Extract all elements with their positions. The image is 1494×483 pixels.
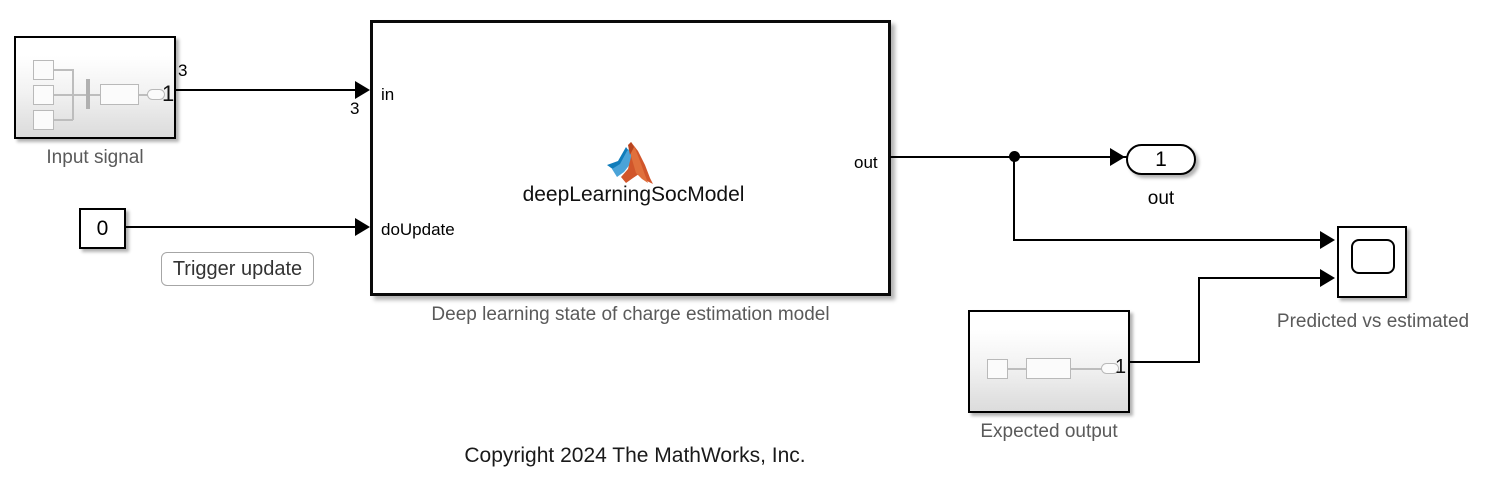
port-label-doupdate: doUpdate xyxy=(381,220,455,240)
icon-source-box-1 xyxy=(33,60,54,80)
icon-wire-1v xyxy=(72,69,74,95)
icon-mux-out xyxy=(90,94,100,96)
block-outport-1[interactable]: 1 xyxy=(1126,144,1196,175)
signal-width-dest: 3 xyxy=(350,99,359,119)
signal-arrow-icon-in xyxy=(355,81,370,99)
copyright-text: Copyright 2024 The MathWorks, Inc. xyxy=(0,444,1270,468)
port-label-in: in xyxy=(381,85,394,105)
simulink-canvas: 1 Input signal 3 3 0 Trigger update deep… xyxy=(0,0,1494,483)
wire-expected-up xyxy=(1198,277,1200,362)
signal-arrow-icon-doupdate xyxy=(355,218,370,236)
annotation-trigger-update[interactable]: Trigger update xyxy=(161,252,314,286)
scope-screen-icon xyxy=(1351,239,1395,274)
icon-wire-b xyxy=(1071,368,1102,370)
block-label-expected-output: Expected output xyxy=(968,421,1130,443)
block-model-reference[interactable]: deepLearningSocModel in doUpdate out xyxy=(370,20,891,296)
icon-wire-1 xyxy=(54,69,73,71)
icon-process-box xyxy=(1026,358,1071,379)
icon-outport-number: 1 xyxy=(162,81,174,107)
icon-process-box xyxy=(100,84,139,105)
block-input-signal[interactable]: 1 xyxy=(14,36,176,139)
matlab-membrane-icon xyxy=(604,139,662,187)
block-label-model-reference: Deep learning state of charge estimation… xyxy=(370,304,891,326)
signal-arrow-icon-outport xyxy=(1110,148,1125,166)
icon-source-box xyxy=(987,359,1008,379)
icon-wire-2 xyxy=(54,94,88,96)
block-label-input-signal: Input signal xyxy=(14,147,176,169)
wire-branch-to-scope xyxy=(1013,239,1323,241)
wire-constant-to-model xyxy=(126,226,357,228)
wire-input-to-model xyxy=(176,89,357,91)
wire-expected-out xyxy=(1130,361,1200,363)
signal-arrow-icon-scope-2 xyxy=(1320,269,1335,287)
model-reference-name: deepLearningSocModel xyxy=(373,183,894,207)
block-scope[interactable] xyxy=(1337,226,1407,298)
icon-wire-3 xyxy=(54,119,73,121)
block-expected-output[interactable]: 1 xyxy=(968,310,1130,413)
port-label-out: out xyxy=(854,153,878,173)
icon-source-box-3 xyxy=(33,110,54,130)
icon-source-box-2 xyxy=(33,85,54,105)
wire-branch-down xyxy=(1013,156,1015,241)
signal-width-source: 3 xyxy=(178,61,187,81)
wire-expected-to-scope xyxy=(1198,277,1323,279)
icon-outport-number: 1 xyxy=(1115,356,1126,379)
block-constant-zero[interactable]: 0 xyxy=(79,208,126,249)
icon-wire-3v xyxy=(72,94,74,120)
icon-wire-a xyxy=(1008,368,1026,370)
block-label-scope: Predicted vs estimated xyxy=(1257,311,1489,333)
block-label-outport: out xyxy=(1126,188,1196,210)
signal-arrow-icon-scope-1 xyxy=(1320,231,1335,249)
